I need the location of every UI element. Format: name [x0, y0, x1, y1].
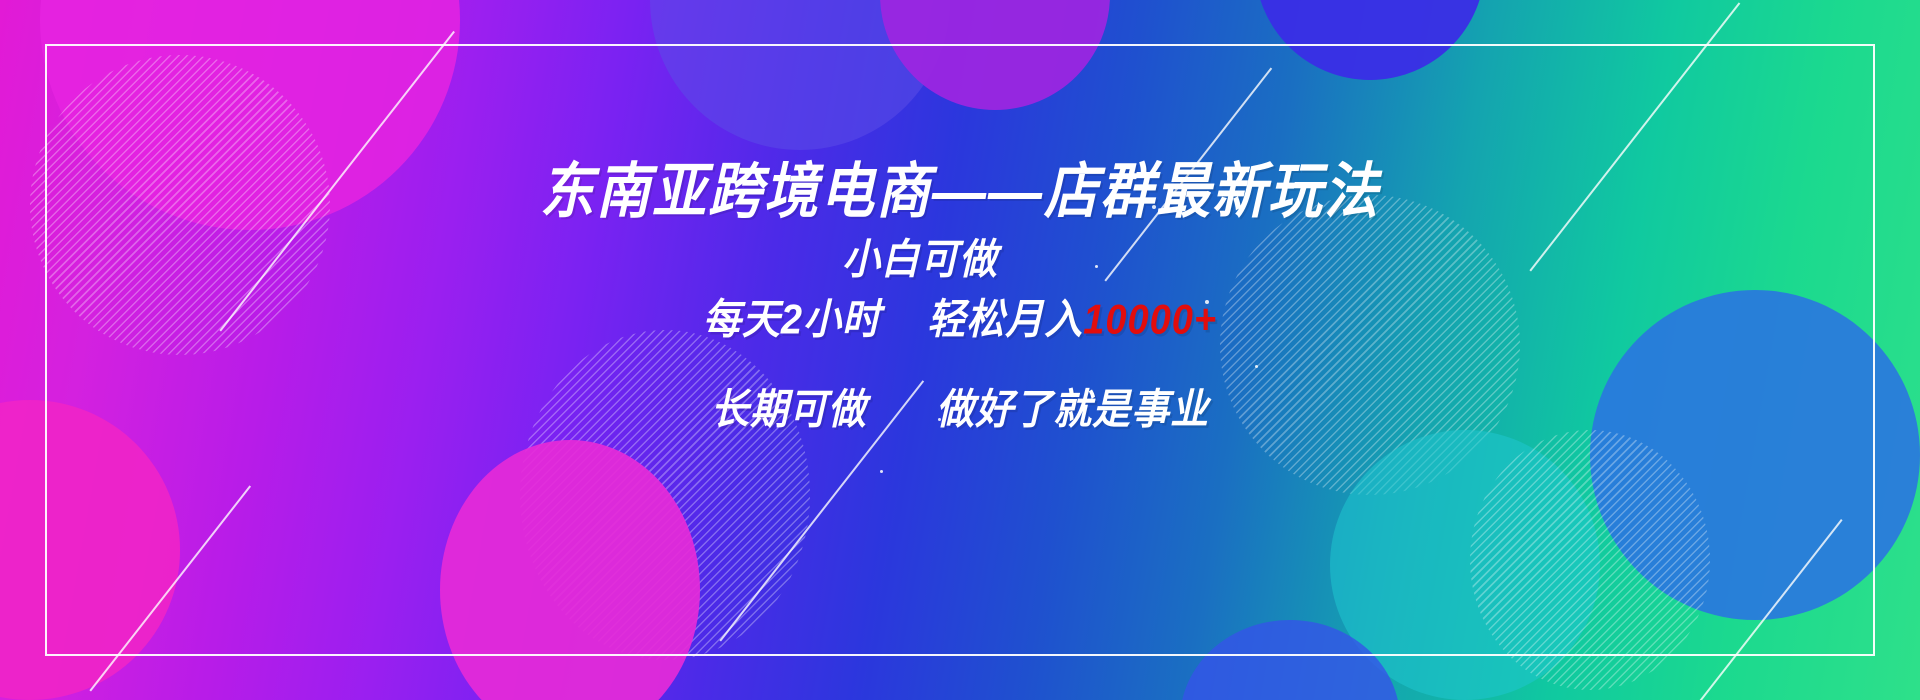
banner-title: 东南亚跨境电商——店群最新玩法 [0, 141, 1920, 229]
banner-subtitle-2: 每天2小时 轻松月入10000+ [0, 285, 1920, 346]
banner-subtitle-3: 长期可做 做好了就是事业 [0, 375, 1920, 436]
income-highlight: 10000+ [1083, 297, 1217, 343]
promo-banner: 东南亚跨境电商——店群最新玩法 小白可做 每天2小时 轻松月入10000+ 长期… [0, 0, 1920, 700]
banner-subtitle-2-prefix: 每天2小时 轻松月入 [703, 297, 1083, 343]
banner-content: 东南亚跨境电商——店群最新玩法 小白可做 每天2小时 轻松月入10000+ 长期… [0, 0, 1920, 700]
banner-subtitle-1: 小白可做 [0, 225, 1920, 286]
